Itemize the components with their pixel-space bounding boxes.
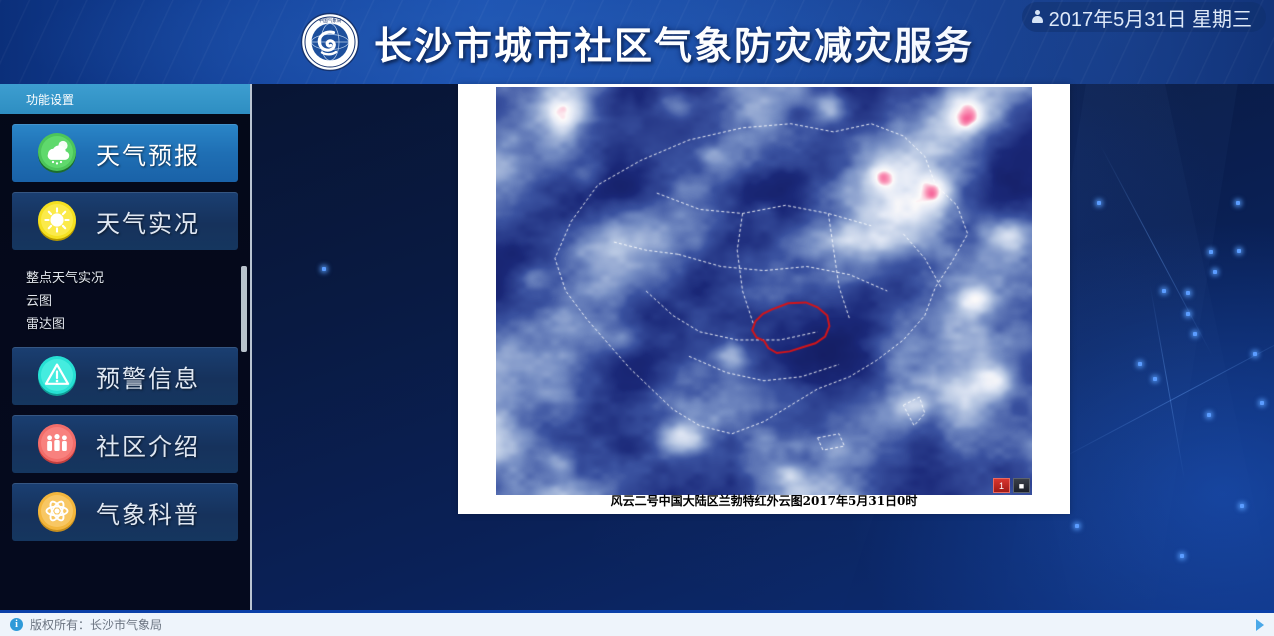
sidebar-item-label: 社区介绍 [96, 427, 200, 462]
sun-icon [36, 200, 78, 242]
sidebar-scroll-area: 天气预报 [0, 114, 250, 610]
image-badge-2[interactable]: ■ [1013, 478, 1030, 493]
image-badges: 1 ■ [993, 478, 1030, 493]
date-display: 2017年5月31日 星期三 [1022, 2, 1266, 32]
cma-emblem-icon: 中国气象局 [300, 12, 360, 72]
person-icon [1032, 10, 1043, 24]
cloud-sun-icon [36, 132, 78, 174]
copyright-text: 版权所有：长沙市气象局 [30, 616, 162, 633]
submenu-item-hourly-weather[interactable]: 整点天气实况 [26, 266, 250, 289]
sidebar-item-meteorology-science[interactable]: 气象科普 [12, 483, 238, 541]
sidebar-item-label: 天气预报 [96, 136, 200, 171]
svg-text:中国气象局: 中国气象局 [318, 17, 341, 24]
image-badge-1[interactable]: 1 [993, 478, 1010, 493]
page-header: 中国气象局 长沙市城市社区气象防灾减灾服务 2017年5月31日 星期三 [0, 0, 1274, 84]
satellite-image[interactable]: 1 ■ [496, 87, 1032, 495]
people-group-icon [36, 423, 78, 465]
sidebar-item-label: 气象科普 [96, 495, 200, 530]
sidebar-item-weather-live[interactable]: 天气实况 [12, 192, 238, 250]
sidebar: 功能设置 天气预报 [0, 84, 252, 610]
sidebar-scrollbar-thumb[interactable] [241, 266, 247, 352]
image-caption: 风云二号中国大陆区兰勃特红外云图2017年5月31日0时 [458, 492, 1070, 509]
sidebar-item-label: 天气实况 [96, 204, 200, 239]
cloud-map-panel: 1 ■ 风云二号中国大陆区兰勃特红外云图2017年5月31日0时 [458, 84, 1070, 514]
info-icon: i [10, 618, 23, 631]
warning-triangle-icon [36, 355, 78, 397]
sidebar-item-warning-info[interactable]: 预警信息 [12, 347, 238, 405]
content-area: 1 ■ 风云二号中国大陆区兰勃特红外云图2017年5月31日0时 [254, 84, 1274, 610]
date-text: 2017年5月31日 星期三 [1049, 3, 1252, 32]
sidebar-item-community-intro[interactable]: 社区介绍 [12, 415, 238, 473]
sidebar-panel-title: 功能设置 [0, 84, 250, 114]
sidebar-submenu: 整点天气实况 云图 雷达图 [0, 260, 250, 347]
submenu-item-radar-map[interactable]: 雷达图 [26, 312, 250, 335]
app-root: 中国气象局 长沙市城市社区气象防灾减灾服务 2017年5月31日 星期三 [0, 0, 1274, 636]
footer: i 版权所有：长沙市气象局 [0, 610, 1274, 636]
sidebar-item-label: 预警信息 [96, 359, 200, 394]
sidebar-item-weather-forecast[interactable]: 天气预报 [12, 124, 238, 182]
atom-icon [36, 491, 78, 533]
resize-arrow-icon[interactable] [1256, 619, 1264, 631]
page-title: 长沙市城市社区气象防灾减灾服务 [374, 15, 974, 70]
submenu-item-cloud-map[interactable]: 云图 [26, 289, 250, 312]
sidebar-scrollbar-track[interactable] [241, 114, 247, 610]
